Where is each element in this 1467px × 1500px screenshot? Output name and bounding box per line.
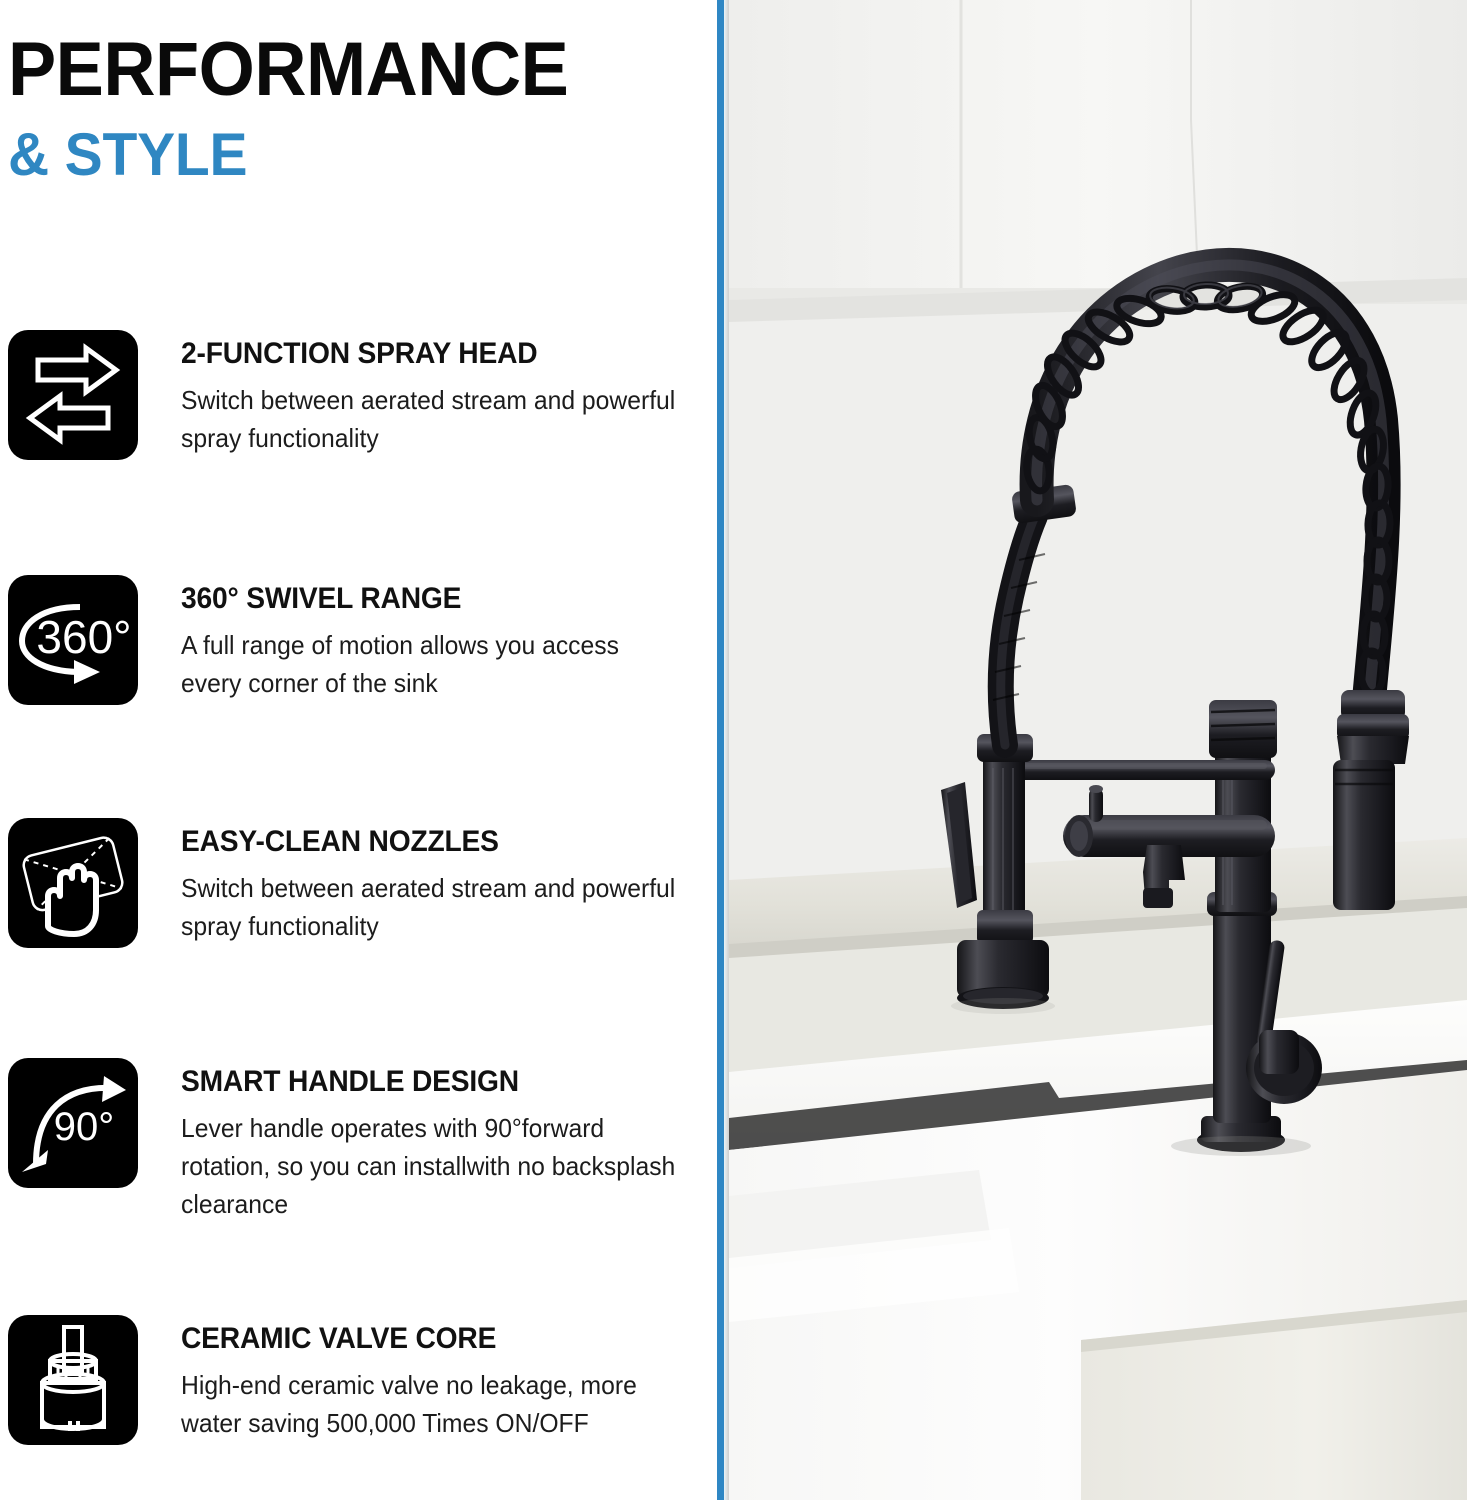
feature-description: Lever handle operates with 90°forward ro… — [181, 1109, 681, 1223]
feature-text: CERAMIC VALVE CORE High-end ceramic valv… — [138, 1303, 717, 1442]
feature-item: 90° SMART HANDLE DESIGN Lever handle ope… — [0, 1046, 717, 1303]
feature-description: Switch between aerated stream and powerf… — [181, 869, 681, 945]
90-icon-label: 90° — [54, 1105, 115, 1149]
90-degree-rotation-icon: 90° — [8, 1058, 138, 1188]
feature-title: 2-FUNCTION SPRAY HEAD — [181, 336, 675, 372]
vertical-divider — [717, 0, 724, 1500]
feature-item: 360° 360° SWIVEL RANGE A full range of m… — [0, 563, 717, 806]
hand-wiping-cloth-icon — [8, 818, 138, 948]
feature-title: 360° SWIVEL RANGE — [181, 581, 675, 617]
feature-item: CERAMIC VALVE CORE High-end ceramic valv… — [0, 1303, 717, 1463]
product-infographic-page: PERFORMANCE & STYLE 2-FUNCTION SPRAY HEA… — [0, 0, 1467, 1500]
feature-title: SMART HANDLE DESIGN — [181, 1064, 675, 1100]
feature-list-panel: PERFORMANCE & STYLE 2-FUNCTION SPRAY HEA… — [0, 0, 717, 1500]
product-photo — [729, 0, 1467, 1500]
feature-description: High-end ceramic valve no leakage, more … — [181, 1366, 681, 1442]
headline-primary: PERFORMANCE — [8, 28, 654, 112]
page-title: PERFORMANCE & STYLE — [8, 28, 688, 190]
feature-text: SMART HANDLE DESIGN Lever handle operate… — [138, 1046, 717, 1223]
ceramic-valve-cartridge-icon — [8, 1315, 138, 1445]
feature-title: CERAMIC VALVE CORE — [181, 1321, 675, 1357]
360-icon-label: 360° — [36, 611, 131, 663]
feature-title: EASY-CLEAN NOZZLES — [181, 824, 675, 860]
two-way-arrows-icon — [8, 330, 138, 460]
feature-text: 360° SWIVEL RANGE A full range of motion… — [138, 563, 717, 702]
feature-item: EASY-CLEAN NOZZLES Switch between aerate… — [0, 806, 717, 1046]
360-degree-rotation-icon: 360° — [8, 575, 138, 705]
headline-secondary: & STYLE — [8, 120, 654, 190]
feature-text: EASY-CLEAN NOZZLES Switch between aerate… — [138, 806, 717, 945]
feature-description: Switch between aerated stream and powerf… — [181, 381, 681, 457]
feature-list: 2-FUNCTION SPRAY HEAD Switch between aer… — [0, 318, 717, 1463]
feature-item: 2-FUNCTION SPRAY HEAD Switch between aer… — [0, 318, 717, 563]
feature-description: A full range of motion allows you access… — [181, 626, 681, 702]
feature-text: 2-FUNCTION SPRAY HEAD Switch between aer… — [138, 318, 717, 457]
